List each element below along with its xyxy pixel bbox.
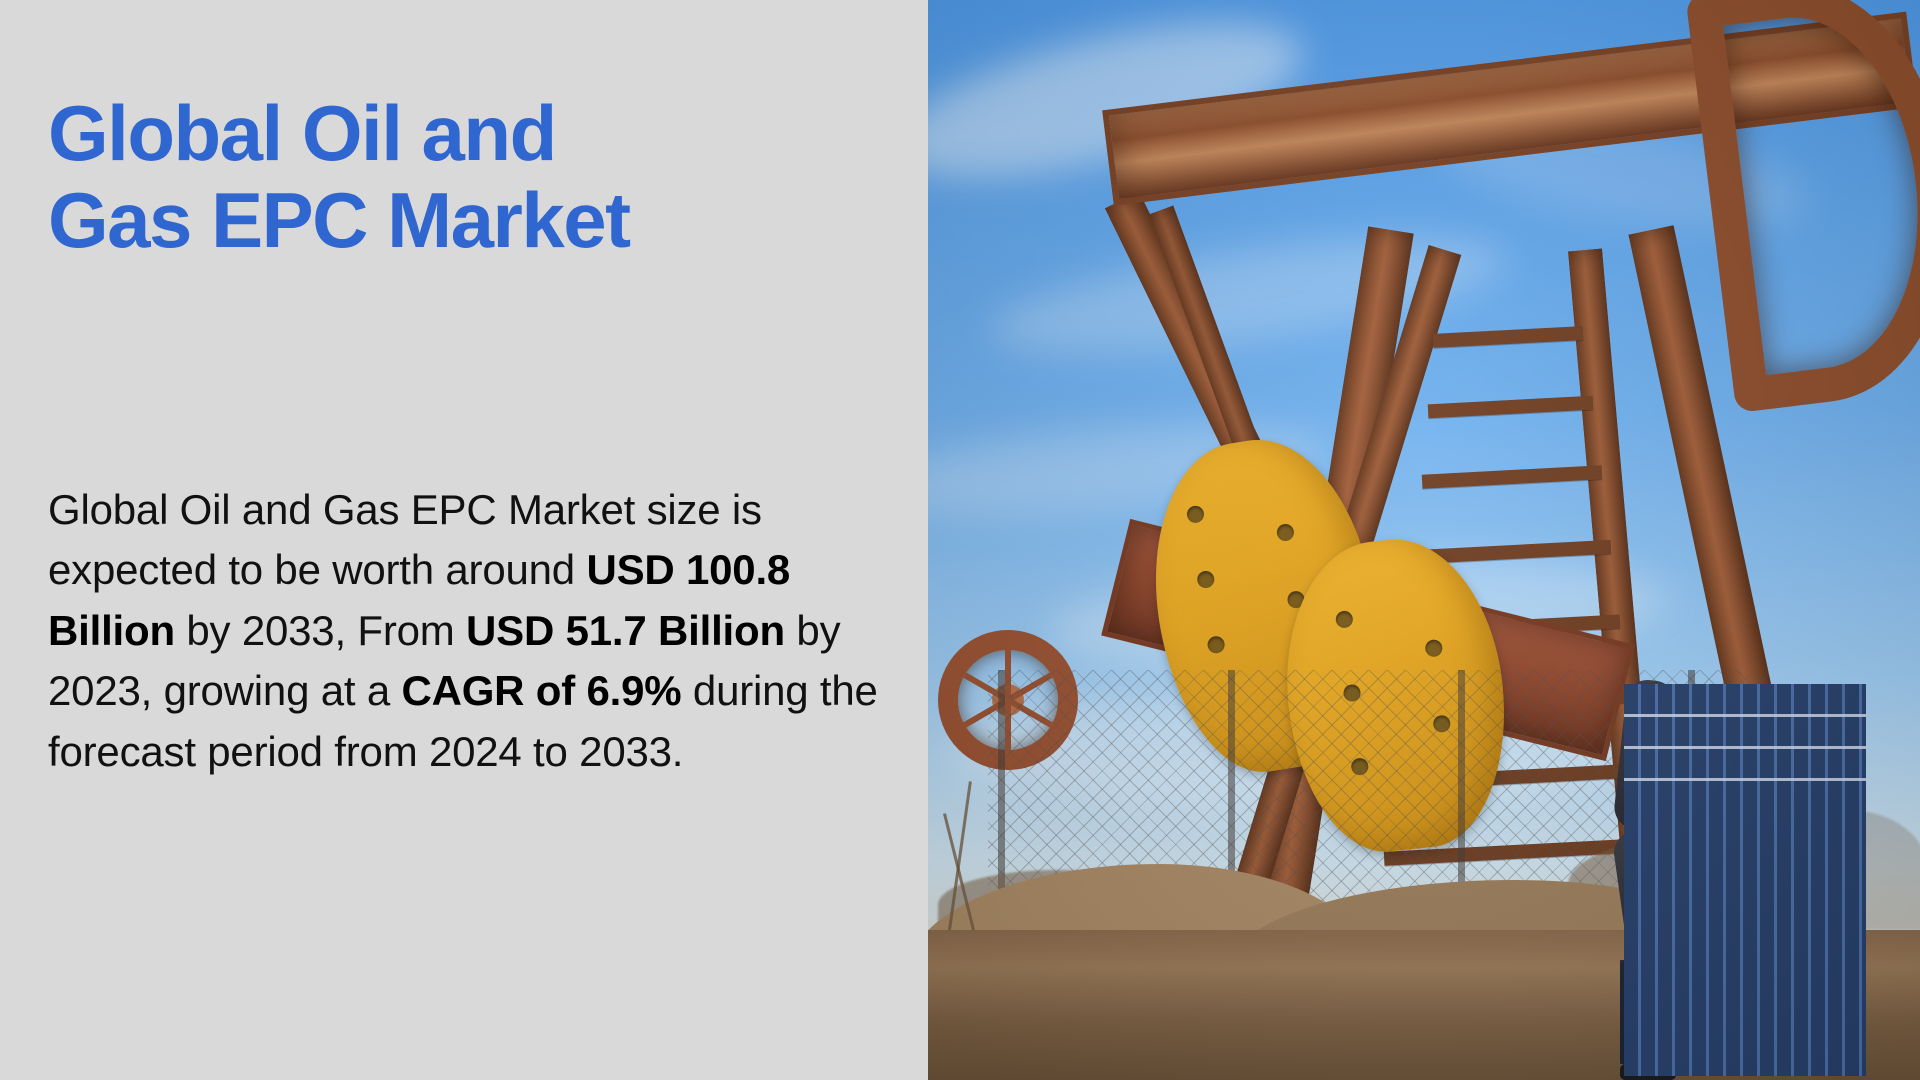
horsehead-arc: [1685, 0, 1920, 413]
beam-rib: [1109, 114, 1119, 115]
text-panel: Global Oil and Gas EPC Market Global Oil…: [0, 0, 928, 1080]
bolt-icon: [1186, 505, 1205, 524]
solar-panel-busbar: [1624, 746, 1866, 749]
market-summary-paragraph: Global Oil and Gas EPC Market size is ex…: [48, 480, 908, 782]
beam-rib: [1109, 114, 1119, 115]
cagr-highlight: CAGR of 6.9%: [401, 667, 681, 714]
solar-panel-busbar: [1624, 778, 1866, 781]
ladder-rung: [1428, 396, 1594, 419]
bolt-icon: [1276, 523, 1295, 542]
page-title: Global Oil and Gas EPC Market: [48, 90, 898, 265]
bolt-icon: [1196, 570, 1215, 589]
page-title-line-1: Global Oil and: [48, 90, 898, 177]
beam-rib: [1109, 114, 1119, 115]
bolt-icon: [1335, 610, 1354, 629]
market-report-banner: Global Oil and Gas EPC Market Global Oil…: [0, 0, 1920, 1080]
summary-segment-2: by 2033, From: [175, 607, 466, 654]
ladder-rung: [1433, 326, 1584, 348]
beam-rib: [1109, 114, 1119, 115]
worker-figure: [1620, 680, 1870, 1080]
base-value-highlight: USD 51.7 Billion: [466, 607, 785, 654]
horsehead: [1685, 0, 1920, 413]
page-title-line-2: Gas EPC Market: [48, 177, 898, 264]
ladder-rung: [1422, 465, 1602, 488]
solar-panel-busbar: [1624, 714, 1866, 717]
hero-photo: [928, 0, 1920, 1080]
bolt-icon: [1206, 635, 1225, 654]
bolt-icon: [1424, 639, 1443, 658]
solar-panel-cells: [1624, 684, 1866, 1076]
